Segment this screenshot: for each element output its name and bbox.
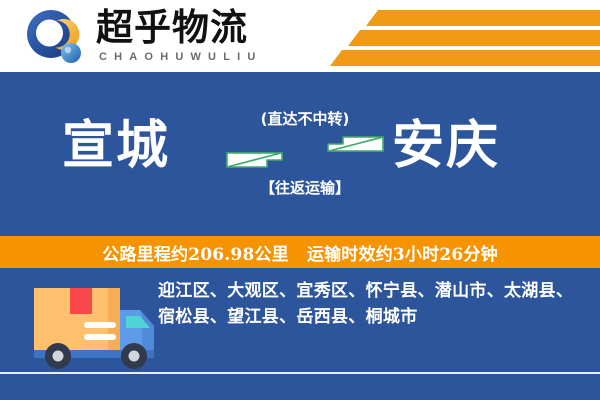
delivery-truck-icon [22,276,162,376]
round-trip-note: 【往返运输】 [225,177,385,198]
brand-name-en: CHAOHUWULIU [96,51,276,63]
circle-crescent-logo-icon [24,8,86,66]
logistics-route-banner: 超乎物流 CHAOHUWULIU 宣城 (直达不中转) [0,0,600,400]
direct-route-note: (直达不中转) [225,108,385,129]
destination-city: 安庆 [392,116,500,176]
coverage-panel: 迎江区、大观区、宜秀区、怀宁县、潜山市、太湖县、 宿松县、望江县、岳西县、桐城市 [0,268,600,400]
distance-text: 公路里程约206.98公里 [102,240,289,265]
brand-name-cn: 超乎物流 [96,6,276,50]
orange-speed-stripes-icon [330,6,600,66]
duration-text: 运输时效约3小时26分钟 [307,240,498,265]
banner-header: 超乎物流 CHAOHUWULIU [0,0,600,72]
route-panel: 宣城 (直达不中转) 【往返运输】 安庆 [0,80,600,236]
route-middle: (直达不中转) 【往返运输】 [225,98,385,218]
header-divider [0,72,600,80]
footer-divider [0,372,600,374]
coverage-line: 宿松县、望江县、岳西县、桐城市 [158,304,586,330]
route-info-bar: 公路里程约206.98公里 运输时效约3小时26分钟 [0,236,600,268]
coverage-area-list: 迎江区、大观区、宜秀区、怀宁县、潜山市、太湖县、 宿松县、望江县、岳西县、桐城市 [158,278,586,330]
coverage-line: 迎江区、大观区、宜秀区、怀宁县、潜山市、太湖县、 [158,278,586,304]
brand-block: 超乎物流 CHAOHUWULIU [96,6,276,68]
bidirectional-arrow-icon [225,135,385,169]
origin-city: 宣城 [62,116,170,176]
